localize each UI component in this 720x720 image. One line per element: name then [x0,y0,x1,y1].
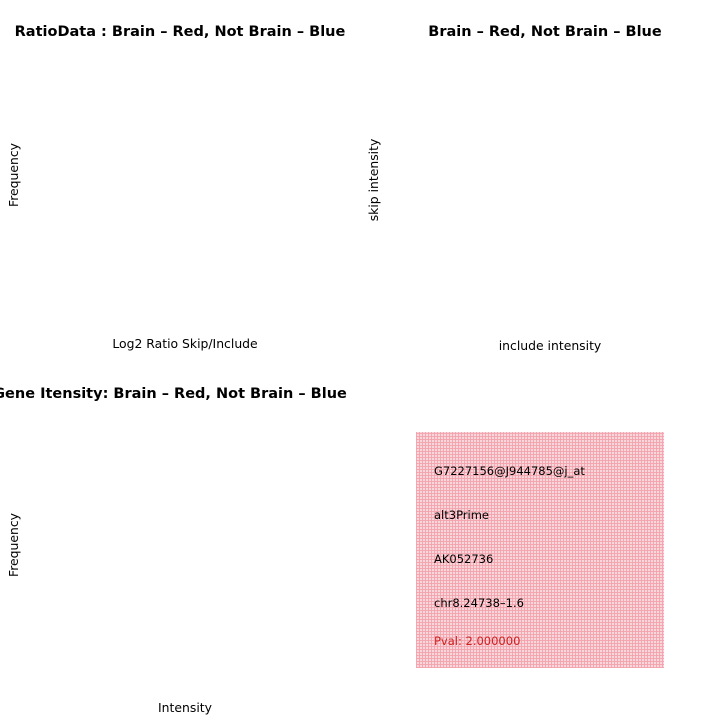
scatter-xlabel: include intensity [499,338,602,353]
probe-id-text: G7227156@J944785@j_at [434,464,585,478]
gene-histogram-title: Gene Itensity: Brain – Red, Not Brain – … [0,386,347,402]
gene-histogram-svg: Gene Itensity: Brain – Red, Not Brain – … [0,360,360,720]
gene-histogram-ylabel: Frequency [6,513,21,577]
ratio-histogram-svg: RatioData : Brain – Red, Not Brain – Blu… [0,0,360,360]
ratio-histogram-title: RatioData : Brain – Red, Not Brain – Blu… [15,24,346,40]
accession-text: AK052736 [434,552,493,566]
locus-text: chr8.24738–1.6 [434,596,524,610]
ratio-histogram-panel: RatioData : Brain – Red, Not Brain – Blu… [0,0,360,360]
scatter-ylabel: skip intensity [366,139,381,222]
plot-canvas: RatioData : Brain – Red, Not Brain – Blu… [0,0,720,720]
event-type-text: alt3Prime [434,508,489,522]
gene-histogram-xlabel: Intensity [158,700,212,715]
ratio-histogram-ylabel: Frequency [6,143,21,207]
pval-text: Pval: 2.000000 [434,634,520,648]
ratio-histogram-xlabel: Log2 Ratio Skip/Include [112,336,257,351]
scatter-svg: Brain – Red, Not Brain – Blue skip inten… [360,0,720,360]
gene-histogram-panel: Gene Itensity: Brain – Red, Not Brain – … [0,360,360,720]
gene-info-panel: G7227156@J944785@j_at alt3Prime AK052736… [416,432,664,668]
scatter-panel: Brain – Red, Not Brain – Blue skip inten… [360,0,720,360]
scatter-title: Brain – Red, Not Brain – Blue [428,24,662,40]
